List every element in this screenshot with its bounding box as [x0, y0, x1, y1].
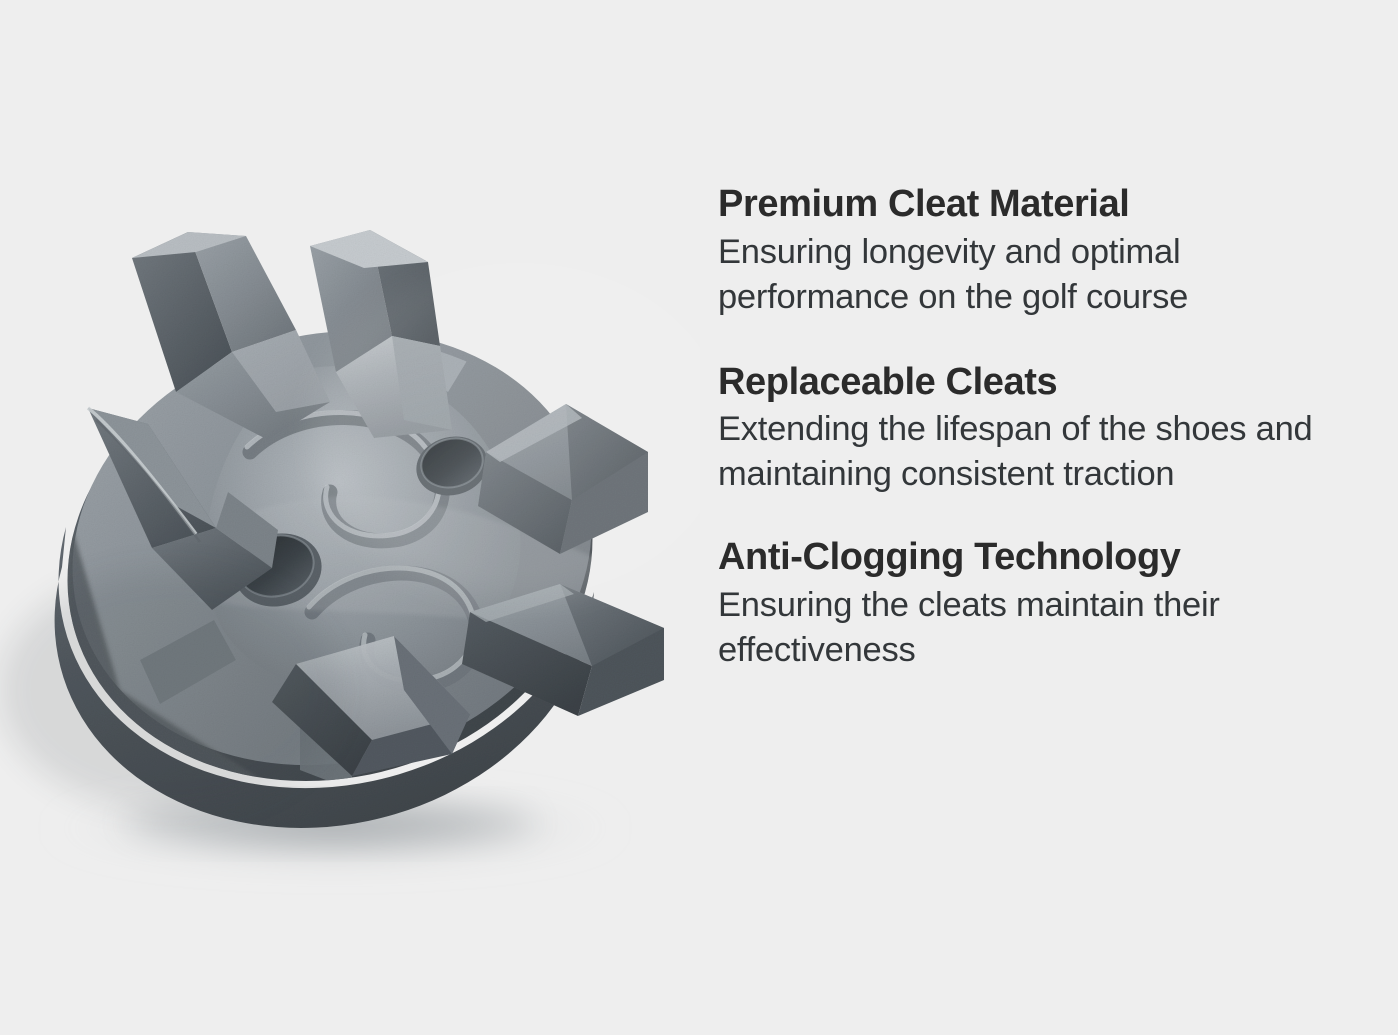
feature-title-premium-cleat-material: Premium Cleat Material [718, 182, 1378, 227]
feature-block-premium-cleat-material: Premium Cleat Material Ensuring longevit… [718, 182, 1378, 320]
feature-list: Premium Cleat Material Ensuring longevit… [718, 182, 1378, 673]
page-root: Premium Cleat Material Ensuring longevit… [0, 0, 1398, 1035]
feature-description-premium-cleat-material: Ensuring longevity and optimal performan… [718, 230, 1370, 320]
feature-block-replaceable-cleats: Replaceable Cleats Extending the lifespa… [718, 360, 1378, 498]
feature-title-replaceable-cleats: Replaceable Cleats [718, 360, 1378, 405]
product-image-cleat [0, 0, 700, 1035]
feature-title-anti-clogging-technology: Anti-Clogging Technology [718, 535, 1378, 580]
feature-description-anti-clogging-technology: Ensuring the cleats maintain their effec… [718, 583, 1370, 673]
feature-block-anti-clogging-technology: Anti-Clogging Technology Ensuring the cl… [718, 535, 1378, 673]
feature-description-replaceable-cleats: Extending the lifespan of the shoes and … [718, 407, 1370, 497]
